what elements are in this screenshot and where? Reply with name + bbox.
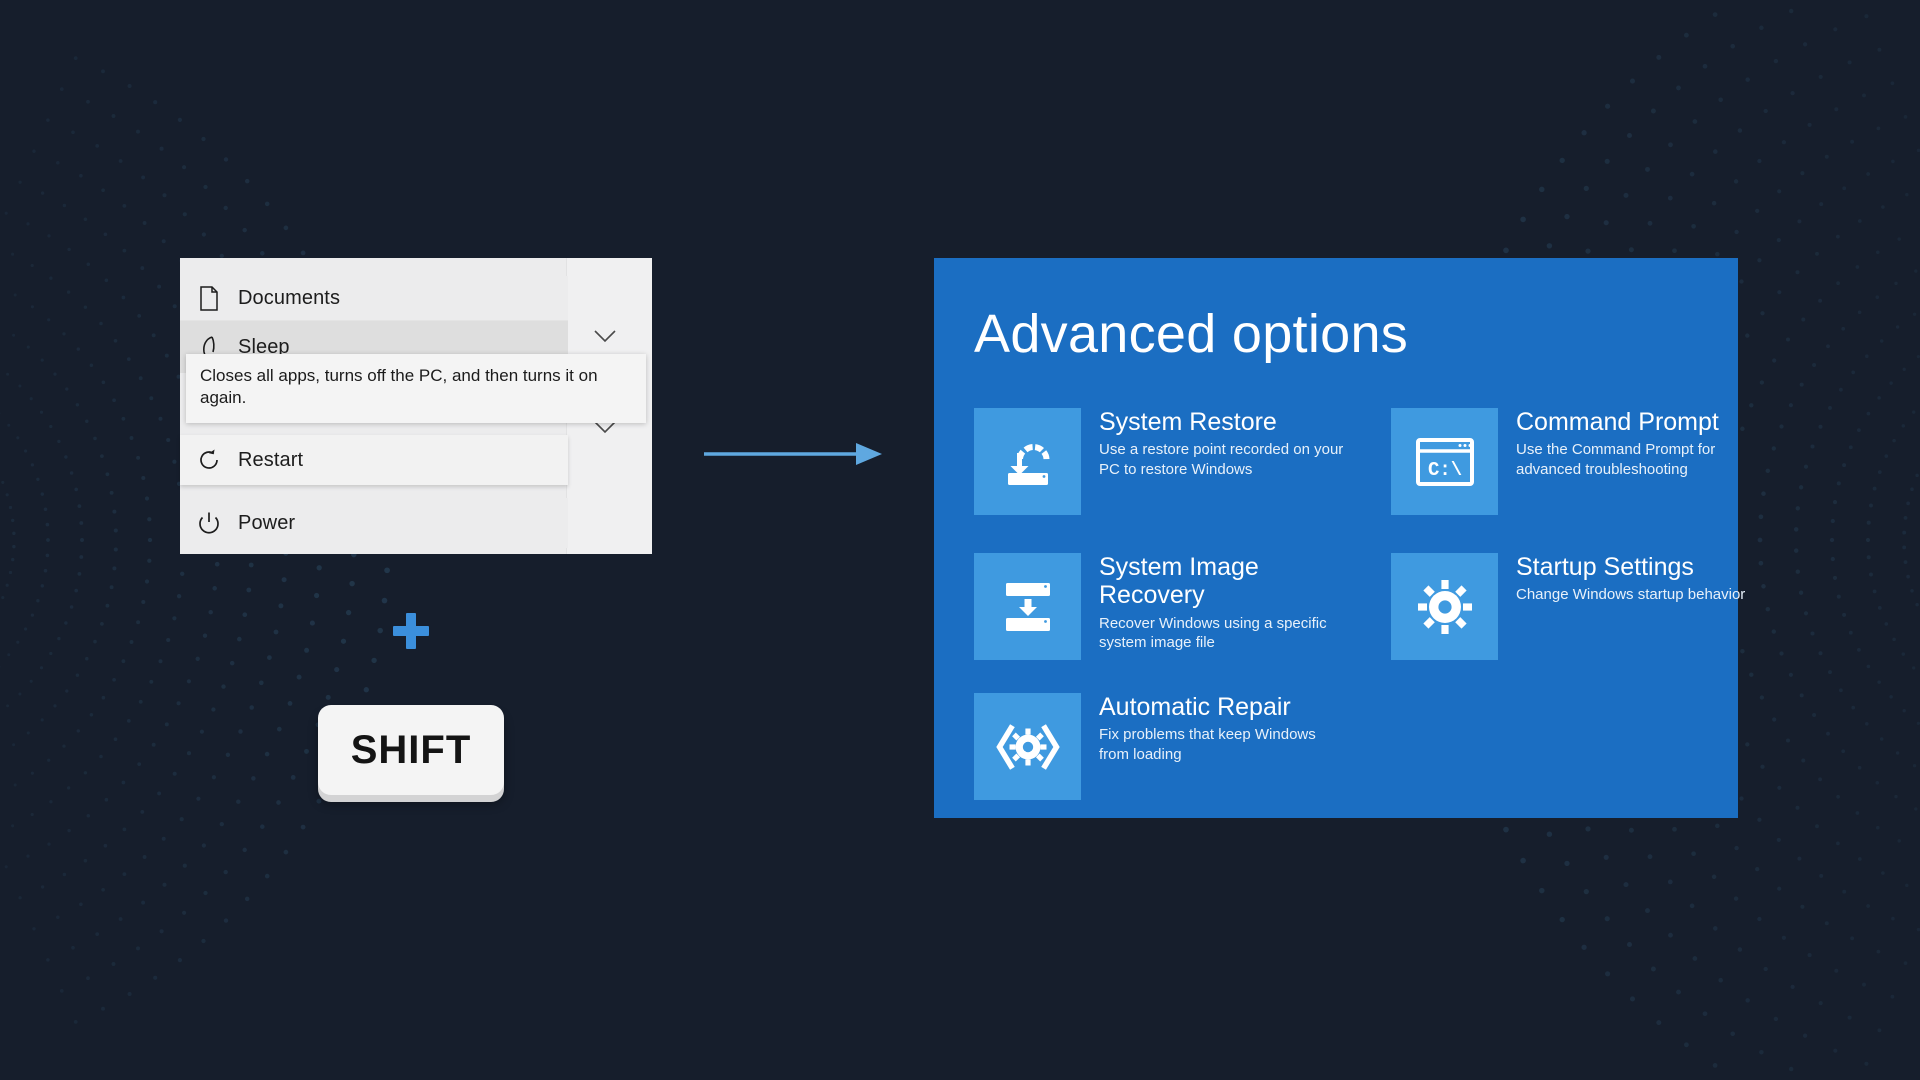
screenshot-root: Documents Sleep Restart bbox=[0, 0, 1920, 1080]
tile-title: Automatic Repair bbox=[1099, 693, 1349, 721]
tile-description: Recover Windows using a specific system … bbox=[1099, 614, 1331, 654]
tile-automatic-repair[interactable]: Automatic Repair Fix problems that keep … bbox=[974, 693, 1349, 800]
tile-title: Startup Settings bbox=[1516, 553, 1766, 581]
advanced-options-panel: Advanced options System Restore bbox=[934, 258, 1738, 818]
flow-arrow-icon bbox=[704, 440, 884, 468]
shift-key[interactable]: SHIFT bbox=[318, 705, 504, 795]
chevron-down-icon[interactable] bbox=[594, 330, 616, 348]
power-icon bbox=[180, 511, 238, 535]
start-menu-item-label: Power bbox=[238, 512, 295, 535]
tile-command-prompt[interactable]: C:\ Command Prompt Use the Command Promp… bbox=[1391, 408, 1766, 515]
system-restore-icon bbox=[974, 408, 1081, 515]
tile-description: Change Windows startup behavior bbox=[1516, 585, 1766, 605]
command-prompt-icon: C:\ bbox=[1391, 408, 1498, 515]
start-menu-item-power[interactable]: Power bbox=[180, 498, 568, 548]
start-menu-item-restart[interactable]: Restart bbox=[180, 435, 568, 485]
tile-description: Fix problems that keep Windows from load… bbox=[1099, 725, 1349, 765]
chevron-down-icon[interactable] bbox=[594, 421, 616, 439]
restart-arrow-icon bbox=[180, 448, 238, 472]
tile-title: System Image Recovery bbox=[1099, 553, 1331, 610]
plus-icon bbox=[393, 613, 429, 649]
svg-text:C:\: C:\ bbox=[1428, 459, 1462, 481]
automatic-repair-icon bbox=[974, 693, 1081, 800]
document-icon bbox=[180, 286, 238, 311]
restart-tooltip: Closes all apps, turns off the PC, and t… bbox=[186, 354, 646, 423]
tile-system-restore[interactable]: System Restore Use a restore point recor… bbox=[974, 408, 1349, 515]
tile-description: Use the Command Prompt for advanced trou… bbox=[1516, 440, 1766, 480]
page-title: Advanced options bbox=[974, 303, 1408, 365]
start-menu-panel: Documents Sleep Restart bbox=[180, 258, 652, 554]
tile-title: Command Prompt bbox=[1516, 408, 1766, 436]
start-menu-item-label: Restart bbox=[238, 449, 303, 472]
tile-startup-settings[interactable]: Startup Settings Change Windows startup … bbox=[1391, 553, 1766, 660]
start-menu-item-documents[interactable]: Documents bbox=[180, 276, 568, 320]
start-menu-item-label: Documents bbox=[238, 287, 340, 310]
gear-icon bbox=[1391, 553, 1498, 660]
system-image-recovery-icon bbox=[974, 553, 1081, 660]
tile-description: Use a restore point recorded on your PC … bbox=[1099, 440, 1349, 480]
tile-system-image-recovery[interactable]: System Image Recovery Recover Windows us… bbox=[974, 553, 1331, 660]
tile-title: System Restore bbox=[1099, 408, 1349, 436]
